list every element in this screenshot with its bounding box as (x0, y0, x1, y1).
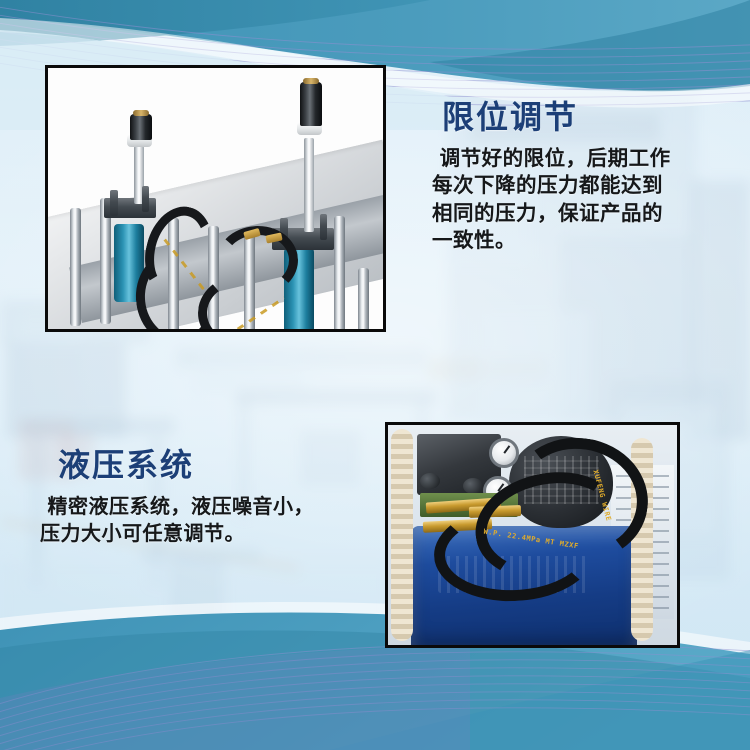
feature-title-limit-adjustment: 限位调节 (432, 100, 732, 135)
hydraulic-cylinder-photo (45, 65, 386, 332)
hydraulic-power-pack-photo: W.P. 22.4MPa MT MZXF XUFENG WIRE (385, 422, 680, 648)
feature-text-hydraulic-system: 液压系统 精密液压系统，液压噪音小， 压力大小可任意调节。 (40, 448, 380, 546)
body-line: 相同的压力，保证产品的 (432, 200, 732, 227)
body-line: 精密液压系统，液压噪音小， (40, 493, 380, 520)
banner-canvas: W.P. 22.4MPa MT MZXF XUFENG WIRE 限位调节 调节… (0, 0, 750, 750)
body-line: 调节好的限位，后期工作 (432, 145, 732, 172)
feature-body-hydraulic-system: 精密液压系统，液压噪音小， 压力大小可任意调节。 (40, 493, 380, 546)
body-line: 一致性。 (432, 227, 732, 254)
body-line: 压力大小可任意调节。 (40, 520, 380, 547)
feature-title-hydraulic-system: 液压系统 (40, 448, 380, 483)
feature-body-limit-adjustment: 调节好的限位，后期工作 每次下降的压力都能达到 相同的压力，保证产品的 一致性。 (432, 145, 732, 254)
body-line: 每次下降的压力都能达到 (432, 172, 732, 199)
feature-text-limit-adjustment: 限位调节 调节好的限位，后期工作 每次下降的压力都能达到 相同的压力，保证产品的… (432, 100, 732, 254)
